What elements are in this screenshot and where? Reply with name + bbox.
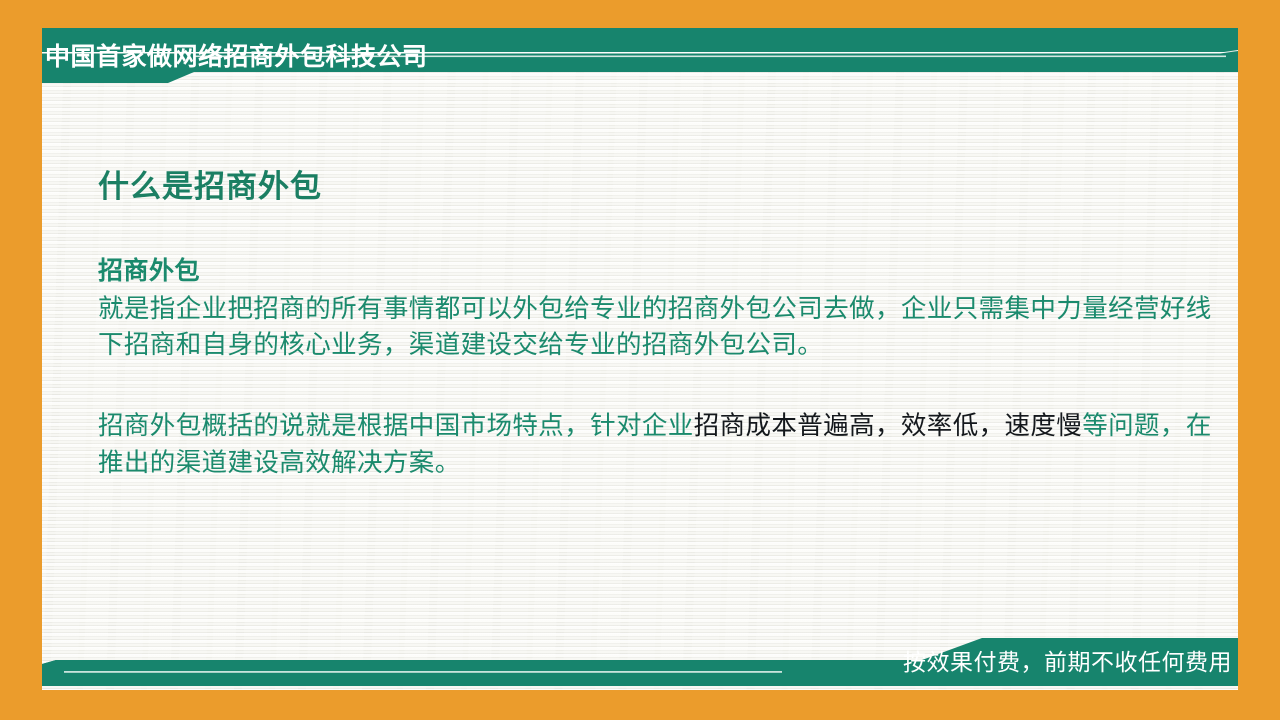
summary-paragraph: 招商外包概括的说就是根据中国市场特点，针对企业招商成本普遍高，效率低，速度慢等问… [98, 408, 1218, 482]
summary-text-leading: 招商外包概括的说就是根据中国市场特点，针对企业 [98, 412, 694, 440]
slide-content: 什么是招商外包 招商外包 就是指企业把招商的所有事情都可以外包给专业的招商外包公… [98, 168, 1228, 482]
footer-tagline: 按效果付费，前期不收任何费用 [903, 646, 1232, 678]
slide-canvas: 中国首家做网络招商外包科技公司 什么是招商外包 招商外包 就是指企业把招商的所有… [0, 0, 1280, 720]
header-title: 中国首家做网络招商外包科技公司 [45, 40, 428, 74]
definition-paragraph: 就是指企业把招商的所有事情都可以外包给专业的招商外包公司去做，企业只需集中力量经… [98, 291, 1218, 365]
definition-term: 招商外包 [98, 255, 1228, 289]
summary-text-highlight: 招商成本普遍高，效率低，速度慢 [694, 412, 1083, 440]
page-title: 什么是招商外包 [98, 168, 1228, 207]
